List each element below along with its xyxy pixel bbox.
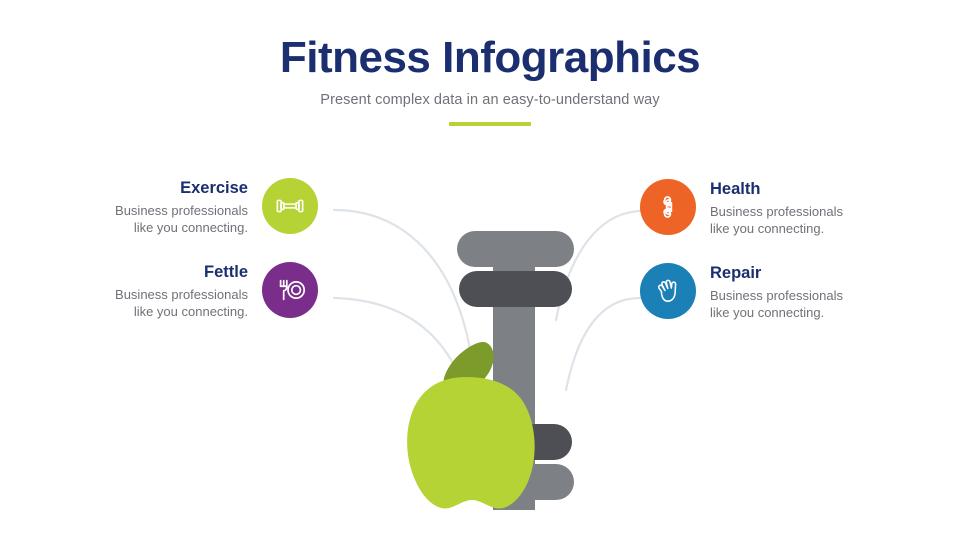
info-item-health-title: Health: [710, 179, 862, 200]
info-item-repair-badge[interactable]: [640, 263, 696, 319]
info-item-fettle-title: Fettle: [96, 262, 248, 283]
info-item-health[interactable]: Health Business professionals like you c…: [640, 179, 862, 238]
hand-icon: [653, 276, 684, 307]
info-item-fettle-badge[interactable]: [262, 262, 318, 318]
info-item-repair[interactable]: Repair Business professionals like you c…: [640, 263, 862, 322]
info-item-health-desc-line1: Business professionals: [710, 203, 862, 221]
info-item-repair-desc-line1: Business professionals: [710, 287, 862, 305]
apple-body: [407, 377, 535, 509]
info-item-fettle[interactable]: Fettle Business professionals like you c…: [96, 262, 318, 321]
info-item-repair-text: Repair Business professionals like you c…: [710, 263, 862, 322]
info-item-fettle-desc-line2: like you connecting.: [96, 303, 248, 321]
info-item-repair-title: Repair: [710, 263, 862, 284]
info-item-exercise-badge[interactable]: [262, 178, 318, 234]
info-item-exercise-text: Exercise Business professionals like you…: [96, 178, 248, 237]
info-item-exercise[interactable]: Exercise Business professionals like you…: [96, 178, 318, 237]
info-item-fettle-text: Fettle Business professionals like you c…: [96, 262, 248, 321]
slide-canvas: Fitness Infographics Present complex dat…: [0, 0, 980, 551]
info-item-exercise-desc-line1: Business professionals: [96, 202, 248, 220]
dumbbell-plate-top-light: [457, 231, 574, 267]
dumbbell-plate-top-dark: [459, 271, 572, 307]
fork-plate-icon: [274, 274, 306, 306]
info-item-fettle-desc-line1: Business professionals: [96, 286, 248, 304]
info-item-repair-desc-line2: like you connecting.: [710, 304, 862, 322]
info-item-health-badge[interactable]: [640, 179, 696, 235]
info-item-health-text: Health Business professionals like you c…: [710, 179, 862, 238]
info-item-exercise-desc-line2: like you connecting.: [96, 219, 248, 237]
bone-icon: [653, 192, 683, 222]
info-item-exercise-title: Exercise: [96, 178, 248, 199]
info-item-health-desc-line2: like you connecting.: [710, 220, 862, 238]
dumbbell-icon: [275, 191, 305, 221]
